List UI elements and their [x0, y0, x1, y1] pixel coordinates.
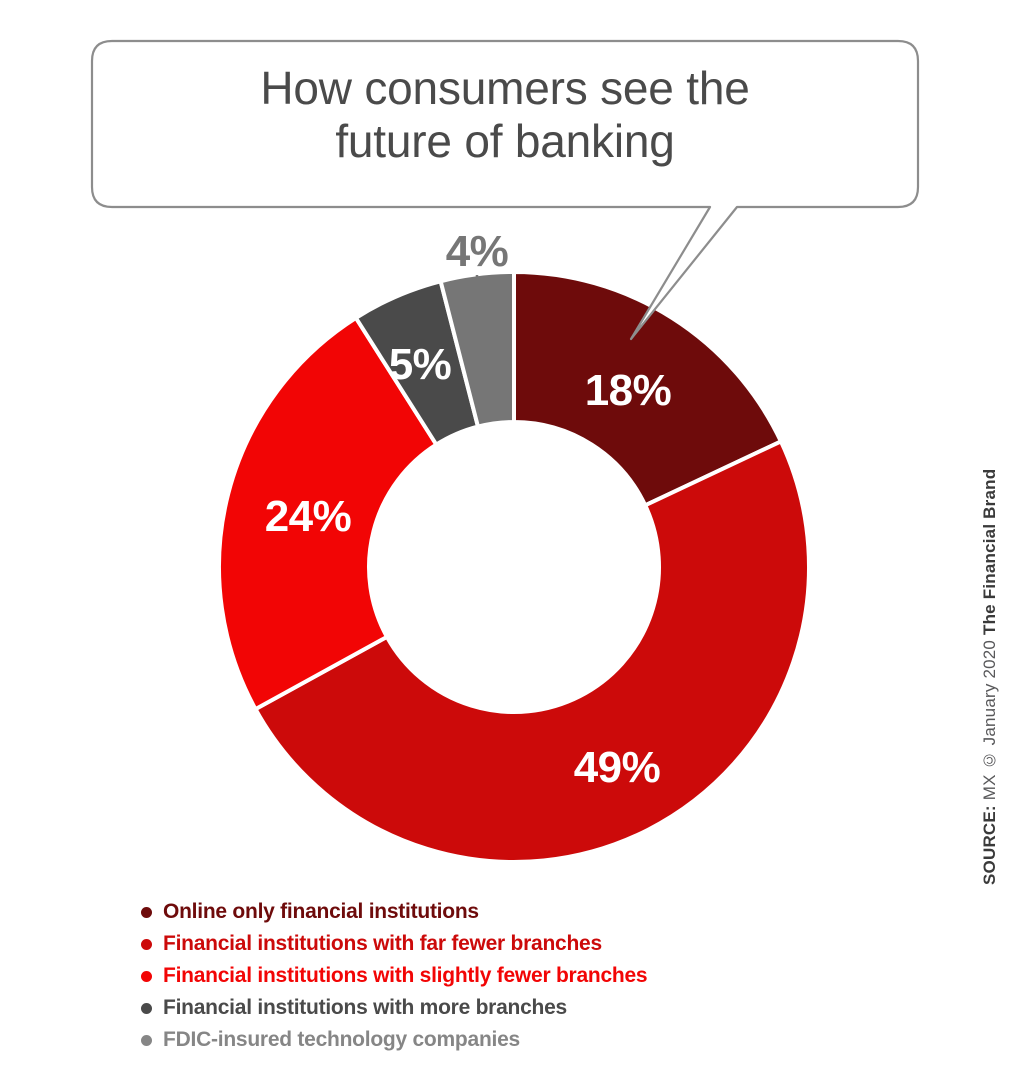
source-label: SOURCE: [980, 805, 999, 885]
legend-bullet-icon [141, 1003, 152, 1014]
source-attribution: SOURCE: MX © January 2020 The Financial … [980, 365, 1006, 885]
slice-value-label-4-percent: 4% [446, 227, 509, 277]
legend-item-label: FDIC-insured technology companies [163, 1029, 520, 1051]
source-brand: The Financial Brand [980, 469, 999, 635]
legend-item-label: Online only financial institutions [163, 901, 479, 923]
legend-item[interactable]: FDIC-insured technology companies [141, 1024, 901, 1056]
legend-item[interactable]: Online only financial institutions [141, 896, 901, 928]
donut-slice-group [219, 272, 809, 862]
slice-value-label-18-percent: 18% [585, 366, 672, 416]
page-title-line-1: How consumers see the [112, 62, 898, 115]
source-middle: MX © January 2020 [980, 635, 999, 805]
slice-value-label-49-percent: 49% [574, 743, 661, 793]
infographic-canvas: 18%49%24%5%4% How consumers see the futu… [0, 0, 1012, 1080]
legend-bullet-icon [141, 907, 152, 918]
legend-bullet-icon [141, 939, 152, 950]
slice-value-label-24-percent: 24% [265, 492, 352, 542]
legend-item-label: Financial institutions with more branche… [163, 997, 567, 1019]
legend-bullet-icon [141, 1035, 152, 1046]
slice-value-label-5-percent: 5% [389, 340, 452, 390]
legend-item[interactable]: Financial institutions with far fewer br… [141, 928, 901, 960]
page-title-line-2: future of banking [112, 115, 898, 168]
legend-item-label: Financial institutions with far fewer br… [163, 933, 602, 955]
page-title: How consumers see the future of banking [112, 62, 898, 168]
chart-legend: Online only financial institutionsFinanc… [141, 896, 901, 1056]
legend-item[interactable]: Financial institutions with slightly few… [141, 960, 901, 992]
legend-bullet-icon [141, 971, 152, 982]
legend-item-label: Financial institutions with slightly few… [163, 965, 647, 987]
legend-item[interactable]: Financial institutions with more branche… [141, 992, 901, 1024]
